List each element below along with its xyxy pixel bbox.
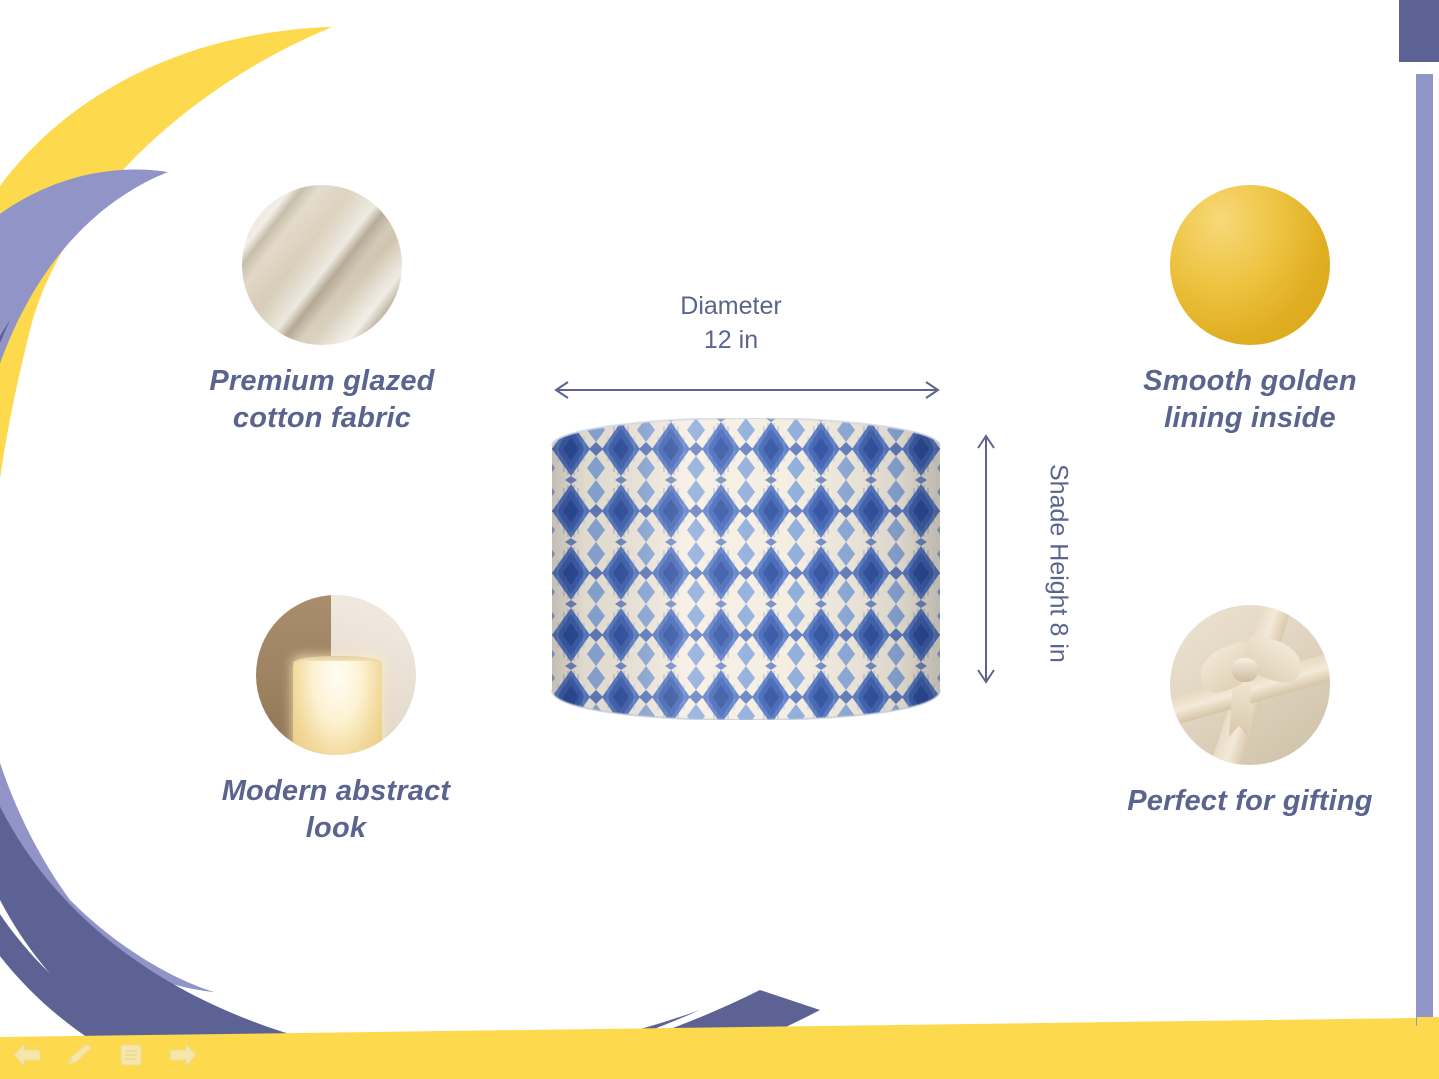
lampshade-lit-body bbox=[293, 661, 383, 755]
shade-height-label: Shade Height bbox=[1045, 464, 1073, 616]
product-diagram: Diameter 12 in bbox=[521, 290, 1121, 730]
lampshade-illustration bbox=[546, 418, 946, 720]
shade-height-label-group: Shade Height 8 in bbox=[1041, 438, 1075, 688]
feature-label-line1: Smooth golden bbox=[1143, 365, 1357, 397]
feature-label-line2: cotton fabric bbox=[233, 402, 411, 434]
feature-label-line1: Perfect for gifting bbox=[1127, 785, 1372, 817]
golden-lining-image bbox=[1170, 185, 1330, 345]
feature-label-line1: Modern abstract bbox=[222, 775, 451, 807]
diameter-arrow bbox=[548, 380, 946, 400]
shade-height-value: 8 in bbox=[1045, 622, 1073, 662]
feature-label: Smooth golden lining inside bbox=[1090, 363, 1410, 437]
lit-lampshade-image bbox=[256, 595, 416, 755]
feature-modern-abstract-look: Modern abstract look bbox=[176, 595, 496, 847]
top-right-purple-block bbox=[1399, 0, 1439, 62]
feature-label: Modern abstract look bbox=[176, 773, 496, 847]
bow-knot bbox=[1232, 658, 1258, 682]
shade-height-arrow bbox=[976, 428, 996, 690]
slide-toolbar[interactable] bbox=[12, 1042, 198, 1068]
bottom-right-yellow-block bbox=[1417, 1017, 1439, 1079]
slide-canvas: Premium glazed cotton fabric Smooth gold… bbox=[0, 0, 1439, 1079]
diameter-label-group: Diameter 12 in bbox=[521, 290, 941, 357]
feature-label-line1: Premium glazed bbox=[209, 365, 434, 397]
right-edge-purple-stripe bbox=[1416, 74, 1433, 1026]
feature-premium-glazed-cotton-fabric: Premium glazed cotton fabric bbox=[162, 185, 482, 437]
document-icon[interactable] bbox=[116, 1042, 146, 1068]
feature-perfect-for-gifting: Perfect for gifting bbox=[1090, 605, 1410, 820]
fabric-swatch-image bbox=[242, 185, 402, 345]
feature-label-line2: lining inside bbox=[1164, 402, 1336, 434]
forward-arrow-icon[interactable] bbox=[168, 1042, 198, 1068]
feature-label: Perfect for gifting bbox=[1090, 783, 1410, 820]
diameter-value: 12 in bbox=[704, 326, 758, 354]
diameter-label: Diameter bbox=[680, 292, 781, 320]
feature-label-line2: look bbox=[306, 812, 366, 844]
back-arrow-icon[interactable] bbox=[12, 1042, 42, 1068]
feature-smooth-golden-lining-inside: Smooth golden lining inside bbox=[1090, 185, 1410, 437]
gift-box-image bbox=[1170, 605, 1330, 765]
pencil-icon[interactable] bbox=[64, 1042, 94, 1068]
feature-label: Premium glazed cotton fabric bbox=[162, 363, 482, 437]
